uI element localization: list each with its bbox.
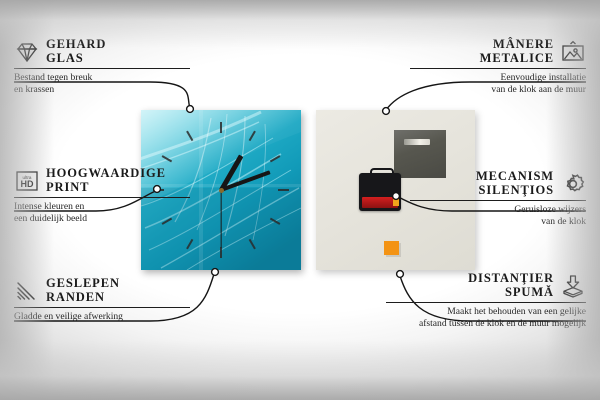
spacer-arrow-icon [560, 274, 586, 298]
feature-mecanism-silentios: MECANISMSILENŢIOS Geruisloze wijzersvan … [410, 170, 586, 227]
svg-text:HD: HD [21, 179, 34, 189]
feature-description: Eenvoudige installatievan de klok aan de… [410, 72, 586, 95]
feature-geslepen-randen: GESLEPENRANDEN Gladde en veilige afwerki… [14, 277, 190, 323]
gear-icon [560, 172, 586, 196]
picture-frame-icon [560, 40, 586, 64]
feature-description: Gladde en veilige afwerking [14, 311, 190, 323]
feature-title: MECANISMSILENŢIOS [476, 170, 554, 197]
feature-title: HOOGWAARDIGEPRINT [46, 167, 166, 194]
feature-title: MÂNEREMETALICE [480, 38, 554, 65]
beveled-edges-icon [14, 279, 40, 303]
divider [386, 302, 586, 303]
feature-hoogwaardige-print: ultra HD HOOGWAARDIGEPRINT Intense kleur… [14, 167, 190, 224]
ultra-hd-icon: ultra HD [14, 169, 40, 193]
product-infographic: GEHARDGLAS Bestand tegen breuken krassen… [0, 0, 600, 400]
feature-distantier-spuma: DISTANŢIERSPUMĂ Maakt het behouden van e… [386, 272, 586, 329]
feature-description: Intense kleuren eneen duidelijk beeld [14, 201, 190, 224]
feature-manere-metalice: MÂNEREMETALICE Eenvoudige installatievan… [410, 38, 586, 95]
feature-title: GESLEPENRANDEN [46, 277, 120, 304]
divider [14, 68, 190, 69]
feature-gehard-glas: GEHARDGLAS Bestand tegen breuken krassen [14, 38, 190, 95]
feature-description: Maakt het behouden van een gelijkeafstan… [386, 306, 586, 329]
divider [410, 200, 586, 201]
divider [14, 307, 190, 308]
feature-description: Bestand tegen breuken krassen [14, 72, 190, 95]
feature-title: GEHARDGLAS [46, 38, 106, 65]
divider [14, 197, 190, 198]
diamond-icon [14, 40, 40, 64]
feature-description: Geruisloze wijzersvan de klok [410, 204, 586, 227]
feature-title: DISTANŢIERSPUMĂ [468, 272, 554, 299]
divider [410, 68, 586, 69]
